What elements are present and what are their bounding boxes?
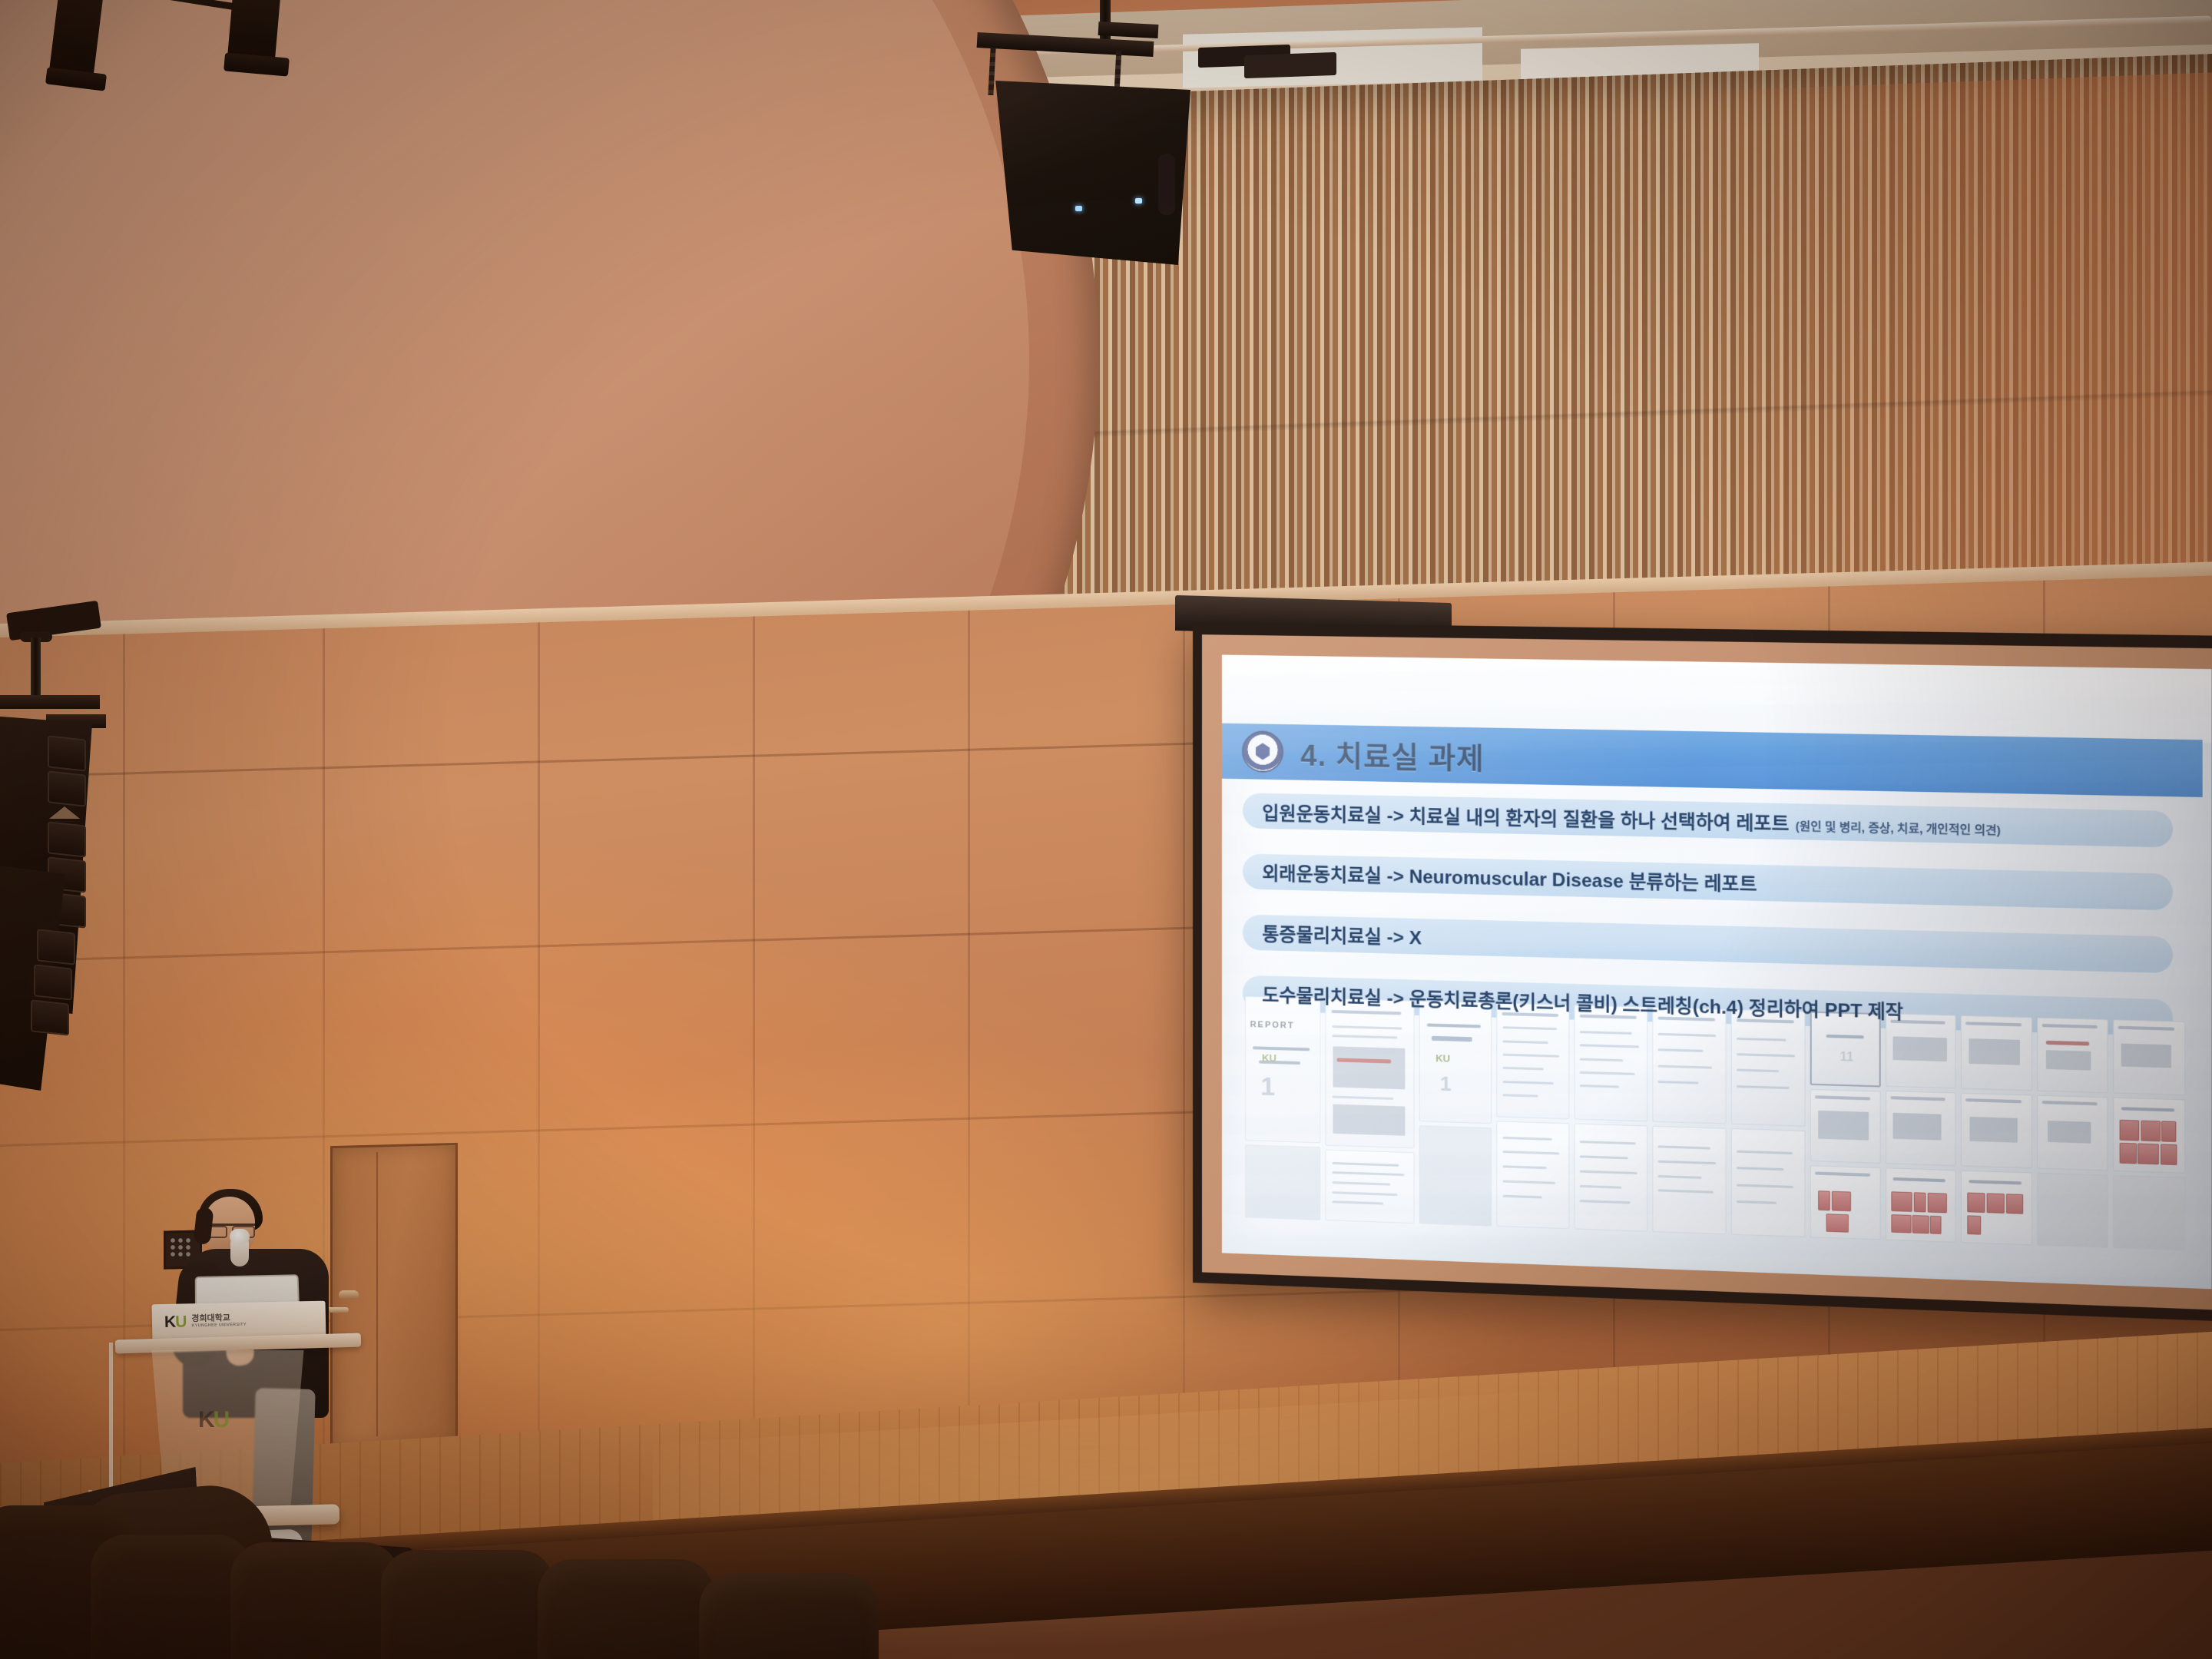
thumbnail-document-list [1496, 1003, 1569, 1119]
thumbnail-page-number: 1 [1260, 1072, 1275, 1103]
ppt-thumbnail-with-images-2 [1886, 1167, 1956, 1243]
ceiling-fixture-right-2 [1244, 52, 1336, 78]
auditorium-seat [230, 1542, 399, 1659]
keypad-buttons[interactable] [169, 1237, 192, 1258]
auditorium-seat [699, 1573, 879, 1659]
thumbnail-document-list-5 [1652, 1008, 1726, 1124]
ppt-thumbnail-with-images-4 [2113, 1098, 2185, 1174]
ppt-thumbnail-with-images-3 [1961, 1170, 2032, 1245]
speaker-led-indicator-1 [1075, 206, 1082, 211]
line-array-reflection [49, 806, 80, 819]
ppt-thumbnail [1810, 1089, 1881, 1164]
thumbnail-document-list-4 [1575, 1123, 1648, 1232]
thumbnail-blank [1245, 1145, 1321, 1221]
ppt-thumbnail-3 [1886, 1091, 1956, 1166]
thumbnail-document-list-6 [1652, 1125, 1726, 1234]
podium-front-logo: KU [198, 1407, 228, 1433]
ppt-thumbnail-8 [2113, 1020, 2185, 1096]
line-array-frame-bar [0, 695, 100, 709]
ppt-thumbnail-blank-2 [2113, 1175, 2185, 1251]
auditorium-scene: 4. 치료실 과제 입원운동치료실 -> 치료실 내의 환자의 질환을 하나 선… [0, 0, 2212, 1659]
ppt-thumbnail-7 [2037, 1095, 2108, 1171]
slide-title: 4. 치료실 과제 [1300, 731, 1484, 777]
thumbnail-document-list-8 [1731, 1128, 1806, 1238]
thumbnail-document-text-2 [1326, 1150, 1415, 1224]
thumbnail-report-cover-2: KU 1 [1419, 1001, 1492, 1124]
bullet-text: 통증물리치료실 -> X [1262, 919, 1428, 949]
thumbnail-report-label: REPORT [1250, 1020, 1295, 1031]
thumbnail-report-cover: REPORT KU 1 [1245, 996, 1321, 1143]
bullet-note-text: (원인 및 병리, 증상, 치료, 개인적인 의견) [1796, 820, 2001, 837]
auditorium-seat [381, 1550, 555, 1659]
slide-bullet-row: 입원운동치료실 -> 치료실 내의 환자의 질환을 하나 선택하여 레포트(원인… [1222, 790, 2212, 852]
microphone-head-icon [230, 1229, 250, 1244]
projection-screen: 4. 치료실 과제 입원운동치료실 -> 치료실 내의 환자의 질환을 하나 선… [1193, 622, 2212, 1322]
thumbnail-blank-2 [1419, 1126, 1492, 1227]
slide-thumbnail-grid: REPORT KU 1 [1245, 996, 2185, 1250]
thumbnail-document-list-2 [1496, 1121, 1569, 1229]
thumbnail-document-list-7 [1731, 1009, 1806, 1126]
podium-brand-name-block: 경희대학교 KYUNGHEE UNIVERSITY [191, 1314, 247, 1329]
ppt-thumbnail-2 [1886, 1014, 1956, 1089]
line-array-rod [31, 637, 41, 700]
ppt-thumbnail-5 [1961, 1093, 2032, 1168]
university-crest-icon [1242, 730, 1283, 773]
ppt-thumbnail-6 [2037, 1018, 2108, 1093]
podium-brand-subname: KYUNGHEE UNIVERSITY [191, 1323, 247, 1329]
thumbnail-brand-mark: KU [1262, 1052, 1277, 1065]
auditorium-seat [538, 1559, 714, 1659]
ppt-thumbnail-4 [1961, 1015, 2032, 1091]
thumbnail-document-list-3 [1575, 1005, 1648, 1121]
slide-bullet-row: 통증물리치료실 -> X [1222, 911, 2212, 978]
bullet-main-text: 통증물리치료실 -> X [1262, 924, 1422, 949]
podium-brand-mark: KU [164, 1313, 187, 1332]
speaker-handle-vent [1158, 154, 1175, 215]
slide-bullet-row: 외래운동치료실 -> Neuromuscular Disease 분류하는 레포… [1222, 850, 2212, 915]
thumbnail-document-text [1326, 998, 1415, 1149]
auditorium-seat [91, 1535, 252, 1659]
podium-brand-accent: U [175, 1313, 187, 1330]
speaker-led-indicator-2 [1135, 198, 1142, 204]
screen-mat-border: 4. 치료실 과제 입원운동치료실 -> 치료실 내의 환자의 질환을 하나 선… [1202, 634, 2212, 1310]
ppt-thumbnail-blank [2037, 1172, 2108, 1248]
presentation-slide: 4. 치료실 과제 입원운동치료실 -> 치료실 내의 환자의 질환을 하나 선… [1222, 655, 2212, 1290]
screen-surface: 4. 치료실 과제 입원운동치료실 -> 치료실 내의 환자의 질환을 하나 선… [1222, 655, 2212, 1290]
ppt-thumbnail-with-images [1810, 1165, 1881, 1240]
